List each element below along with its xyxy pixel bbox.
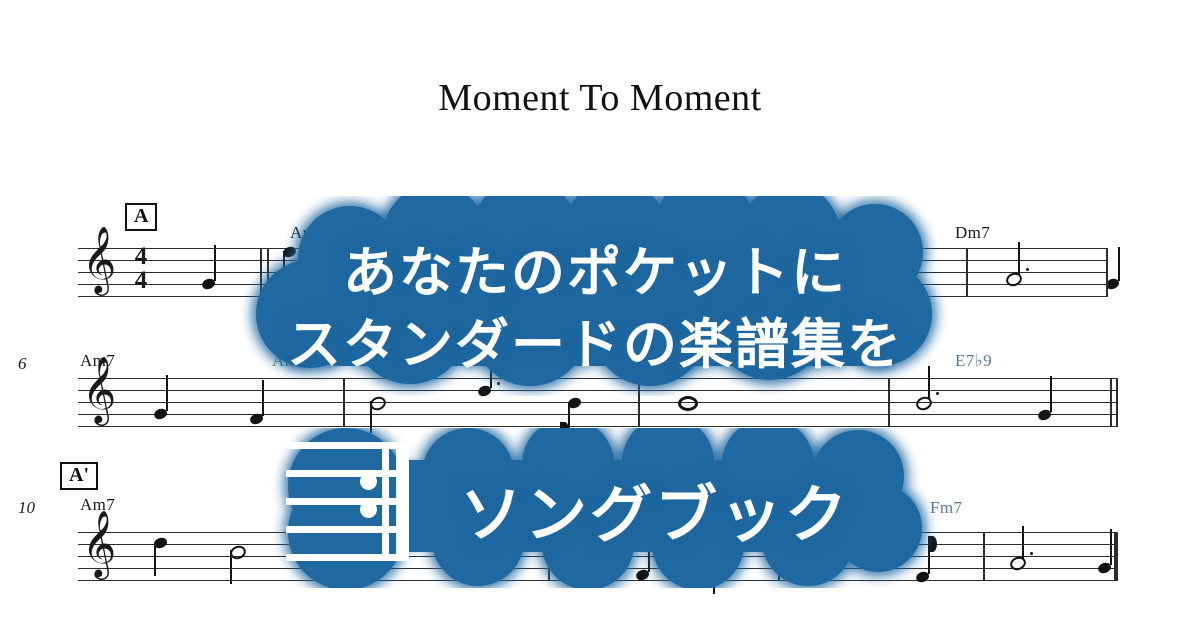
treble-clef-icon: 𝄞 — [82, 230, 116, 288]
headline-overlay: あなたのポケットに スタンダードの楽譜集を — [240, 196, 950, 396]
treble-clef-icon: 𝄞 — [82, 514, 116, 572]
brand-name: ソングブック — [460, 464, 850, 554]
time-signature-numerator: 4 — [130, 247, 152, 267]
treble-clef-icon: 𝄞 — [82, 360, 116, 418]
repeat-sign-logo — [286, 442, 426, 570]
headline-line-2: スタンダードの楽譜集を — [240, 300, 950, 379]
brand-overlay: ソングブック — [268, 428, 940, 588]
measure-number: 10 — [18, 498, 35, 518]
page-title: Moment To Moment — [0, 76, 1200, 120]
promo-banner: Moment To Moment A Am7 F/A Am6 Dm7 𝄞 4 4 — [0, 0, 1200, 630]
chord-symbol: Dm7 — [955, 223, 990, 243]
rehearsal-mark-a-prime: A' — [60, 462, 98, 490]
time-signature-denominator: 4 — [130, 271, 152, 291]
headline-line-1: あなたのポケットに — [240, 228, 950, 307]
measure-number: 6 — [18, 354, 27, 374]
rehearsal-mark-a: A — [125, 203, 157, 231]
chord-symbol: E7♭9 — [955, 351, 992, 371]
